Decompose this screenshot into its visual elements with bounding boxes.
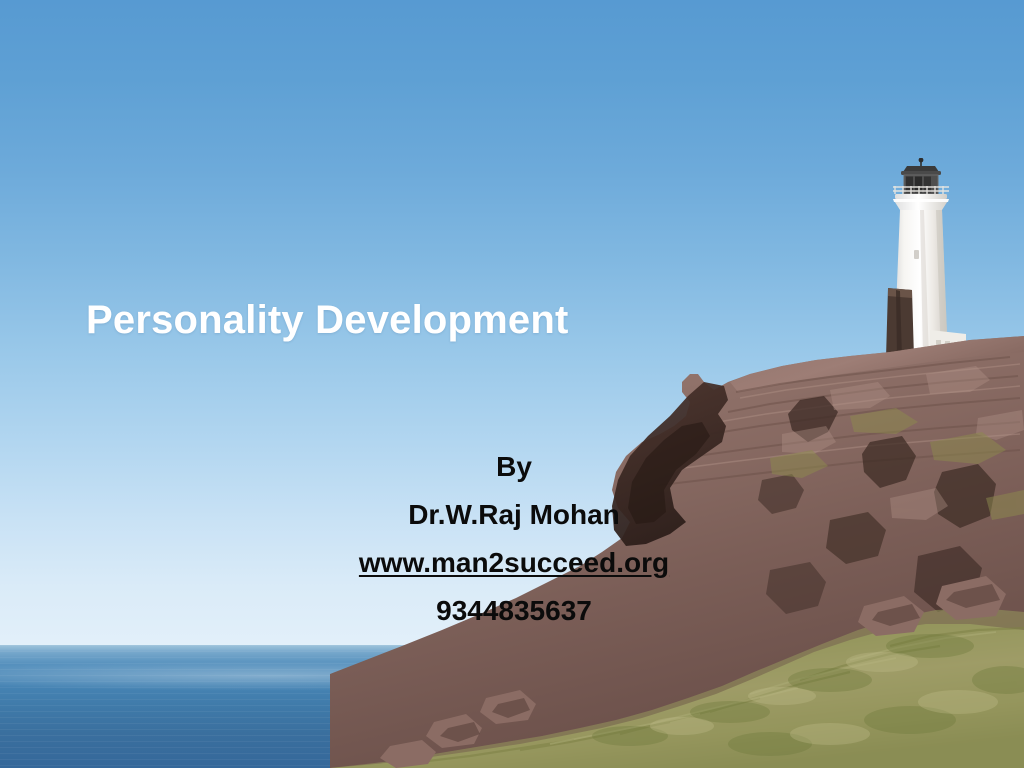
byline-line-phone: 9344835637 (268, 587, 760, 635)
byline-block: By Dr.W.Raj Mohan www.man2succeed.org 93… (268, 443, 760, 635)
presentation-slide: Personality Development By Dr.W.Raj Moha… (0, 0, 1024, 768)
byline-line-website[interactable]: www.man2succeed.org (268, 539, 760, 587)
byline-line-by: By (268, 443, 760, 491)
page-title: Personality Development (86, 298, 569, 343)
byline-line-presenter: Dr.W.Raj Mohan (268, 491, 760, 539)
